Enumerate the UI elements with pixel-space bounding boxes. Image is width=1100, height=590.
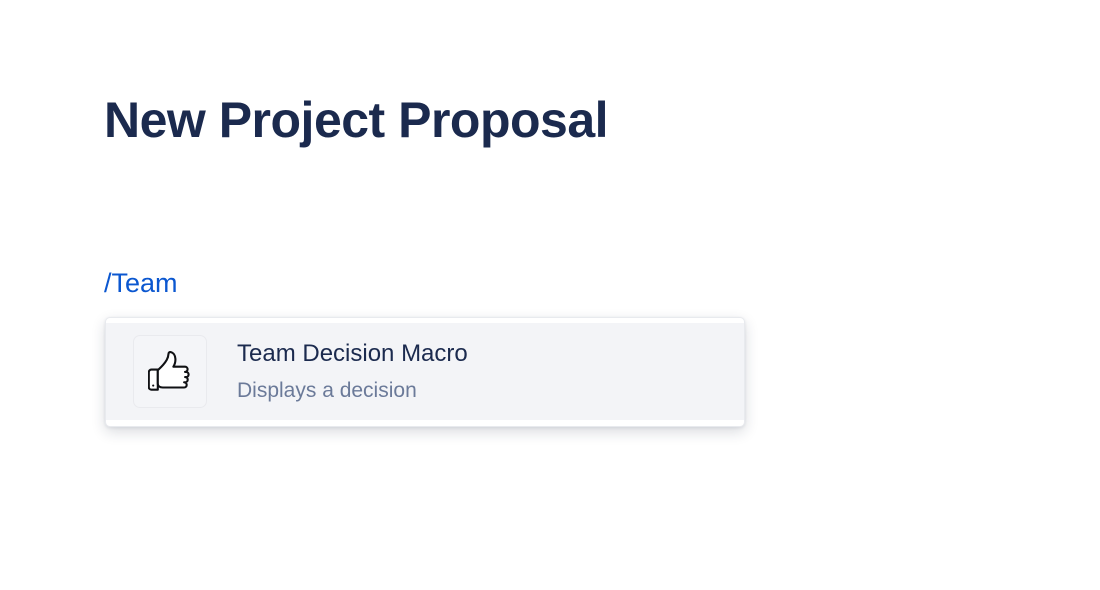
- slash-command-text[interactable]: /Team: [104, 264, 178, 302]
- macro-item-name: Team Decision Macro: [237, 339, 468, 369]
- page-title: New Project Proposal: [104, 89, 608, 151]
- macro-item-text: Team Decision Macro Displays a decision: [237, 339, 468, 404]
- macro-item-description: Displays a decision: [237, 378, 468, 404]
- macro-suggestion-popup: Team Decision Macro Displays a decision: [105, 317, 745, 427]
- thumbs-up-icon: [148, 351, 192, 393]
- macro-list-item-team-decision[interactable]: Team Decision Macro Displays a decision: [106, 323, 744, 420]
- editor-page: New Project Proposal /Team Team Decision…: [0, 0, 1100, 590]
- macro-icon-container: [133, 335, 207, 408]
